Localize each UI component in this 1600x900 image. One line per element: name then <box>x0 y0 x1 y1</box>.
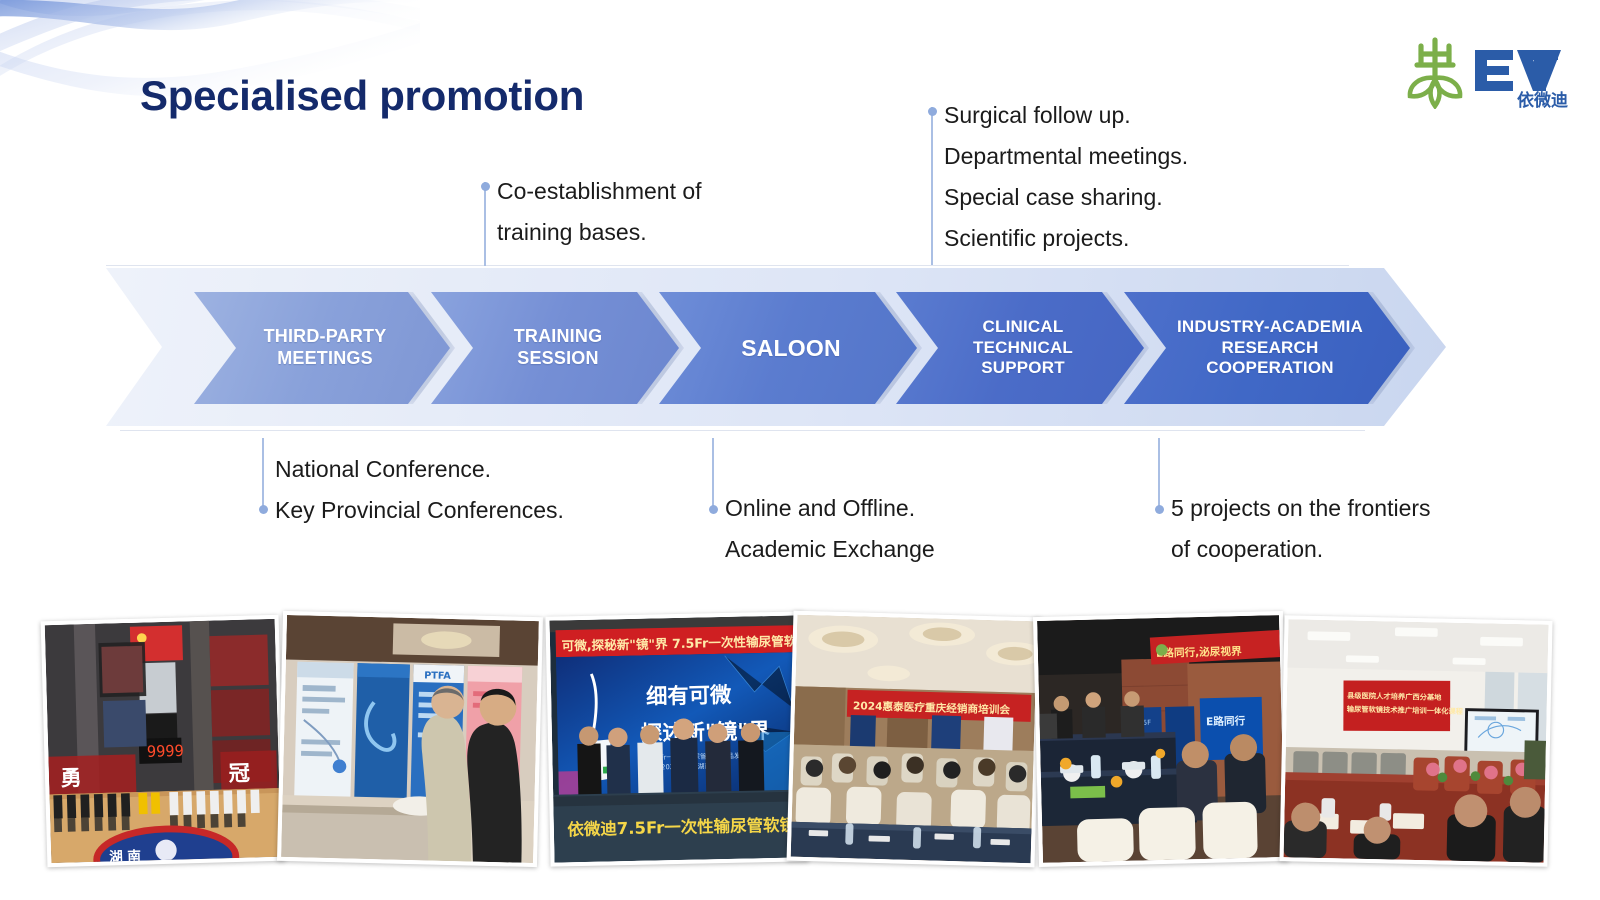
callout-line: training bases. <box>497 212 702 253</box>
step-label-line: THIRD-PARTY <box>264 326 387 348</box>
step-label-line: MEETINGS <box>264 348 387 370</box>
process-step-industry-academia-research-cooperation[interactable]: INDUSTRY-ACADEMIA RESEARCH COOPERATION <box>1124 292 1410 404</box>
step-label-line: TECHNICAL <box>973 338 1073 359</box>
step-label-line: TRAINING <box>514 326 603 348</box>
svg-text:湖 南: 湖 南 <box>109 848 141 864</box>
callout-connector-line <box>931 107 933 265</box>
photo-hospital-meeting-room[interactable]: 县级医院人才培养广西分基地 输尿管软镜技术推广培训一体化课程 <box>1279 615 1552 867</box>
svg-text:勇: 勇 <box>60 766 82 792</box>
callout-line: of cooperation. <box>1171 529 1431 570</box>
step-label-line: SUPPORT <box>973 358 1073 379</box>
callout-dot <box>928 107 937 116</box>
photo-gallery-strip: 99 99 勇 冠 <box>0 600 1600 900</box>
slide-title: Specialised promotion <box>140 72 584 120</box>
logo-plant-icon <box>1417 40 1453 78</box>
step-label-line: COOPERATION <box>1177 358 1363 379</box>
photo-conference-hall-audience[interactable]: 2024惠泰医疗重庆经销商培训会 <box>787 611 1042 868</box>
step-label-line: SESSION <box>514 348 603 370</box>
callout-connector-line <box>262 438 264 510</box>
process-flow-band: THIRD-PARTY MEETINGS TRAINING SESSION SA… <box>106 268 1446 426</box>
svg-text:99: 99 <box>165 742 184 761</box>
svg-text:E路同行,泌尿视界: E路同行,泌尿视界 <box>1156 645 1242 660</box>
callout-connector-line <box>1158 438 1160 510</box>
photo-product-launch-stage[interactable]: 可微,探秘新"镜"界 7.5Fr一次性输尿管软镜产品 <box>545 611 808 866</box>
photo-panel-discussion-room[interactable]: E路同行,泌尿视界 7.5F E路同行 <box>1033 611 1289 867</box>
step-label-line: INDUSTRY-ACADEMIA <box>1177 317 1363 338</box>
callout-dot <box>259 505 268 514</box>
callout-line: Special case sharing. <box>944 177 1188 218</box>
guide-rule-bottom <box>120 430 1365 431</box>
step-label-line: CLINICAL <box>973 317 1073 338</box>
svg-text:E路同行: E路同行 <box>1206 714 1246 728</box>
callout-line: Academic Exchange <box>725 529 935 570</box>
logo-chinese-name: 依微迪 <box>1517 90 1568 109</box>
callout-line: Departmental meetings. <box>944 136 1188 177</box>
callout-line: Key Provincial Conferences. <box>275 490 564 531</box>
slide-canvas: Specialised promotion 依微迪 <box>0 0 1600 900</box>
photo-exhibition-booth[interactable]: PTFA <box>277 611 543 867</box>
callout-dot <box>1155 505 1164 514</box>
guide-rule-top <box>106 265 1349 266</box>
svg-text:99: 99 <box>147 742 166 761</box>
svg-text:冠: 冠 <box>228 761 250 787</box>
logo-wordmark <box>1475 50 1561 91</box>
step-label-line: RESEARCH <box>1177 338 1363 359</box>
callout-line: 5 projects on the frontiers <box>1171 488 1431 529</box>
photo-basketball-court-ceremony[interactable]: 99 99 勇 冠 <box>41 615 286 868</box>
callout-dot <box>481 182 490 191</box>
brand-logo: 依微迪 <box>1397 34 1572 109</box>
callout-line: Scientific projects. <box>944 218 1188 259</box>
callout-connector-line <box>484 182 486 266</box>
callout-connector-line <box>712 438 714 510</box>
callout-line: Surgical follow up. <box>944 95 1188 136</box>
svg-text:细有可微: 细有可微 <box>646 682 732 710</box>
svg-text:PTFA: PTFA <box>424 670 451 682</box>
callout-line: Online and Offline. <box>725 488 935 529</box>
callout-line: Co-establishment of <box>497 171 702 212</box>
callout-line: National Conference. <box>275 449 564 490</box>
step-label-line: SALOON <box>741 334 841 362</box>
callout-dot <box>709 505 718 514</box>
